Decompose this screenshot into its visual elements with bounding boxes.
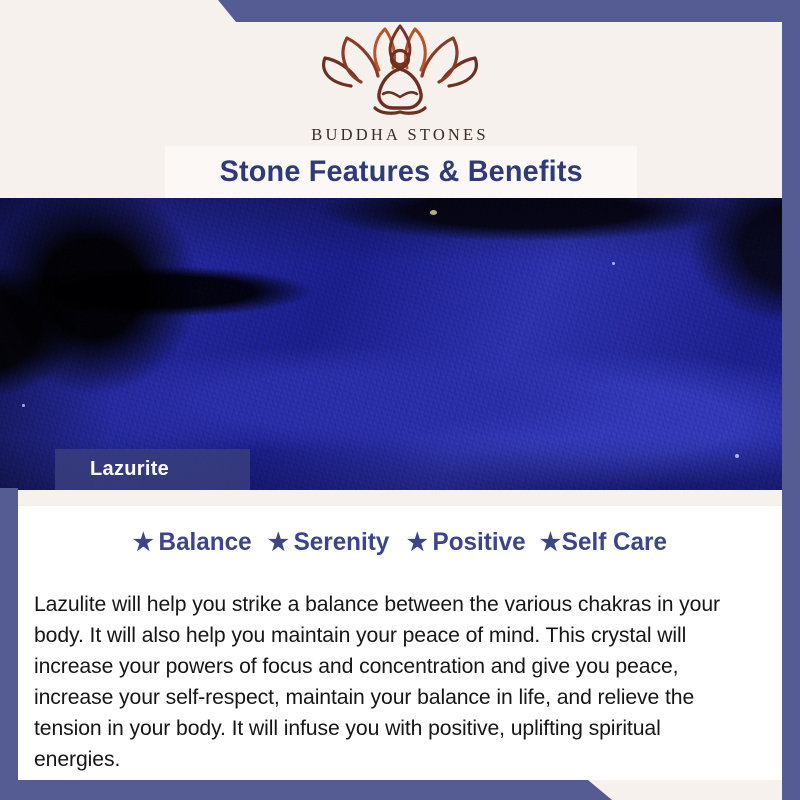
keyword-self-care: ★ Self Care [540,528,667,557]
star-icon: ★ [406,531,427,555]
panel-top-strip [18,490,782,506]
keyword-balance: ★ Balance [133,528,252,557]
stone-speck [735,454,739,458]
stone-speck [612,262,615,265]
keyword-label: Positive [432,528,525,557]
keyword-label: Self Care [562,528,667,557]
page-title: Stone Features & Benefits [219,155,582,189]
lazurite-stone-photo [0,198,800,490]
lotus-meditation-icon [315,24,485,121]
stone-name-chip: Lazurite [55,449,250,490]
stone-description: Lazulite will help you strike a balance … [34,589,731,775]
keyword-positive: ★ Positive [406,528,525,557]
star-icon: ★ [540,531,561,555]
keyword-label: Serenity [294,528,390,557]
star-icon: ★ [133,531,154,555]
frame-bottom-band [0,780,800,800]
keyword-list: ★ Balance ★ Serenity ★ Positive ★ Self C… [18,528,782,557]
stone-name: Lazurite [90,458,169,481]
keyword-label: Balance [159,528,252,557]
stone-shading [0,198,800,490]
brand-name: BUDDHA STONES [311,125,488,145]
star-icon: ★ [268,531,289,555]
keyword-serenity: ★ Serenity [268,528,389,557]
frame-left-band [0,488,18,800]
stone-speck [430,210,437,215]
stone-speck [22,404,25,407]
brand-logo-block: BUDDHA STONES [0,24,800,145]
infographic-card: BUDDHA STONES Stone Features & Benefits … [0,0,800,800]
page-title-band: Stone Features & Benefits [165,146,637,198]
frame-right-band [782,0,800,800]
